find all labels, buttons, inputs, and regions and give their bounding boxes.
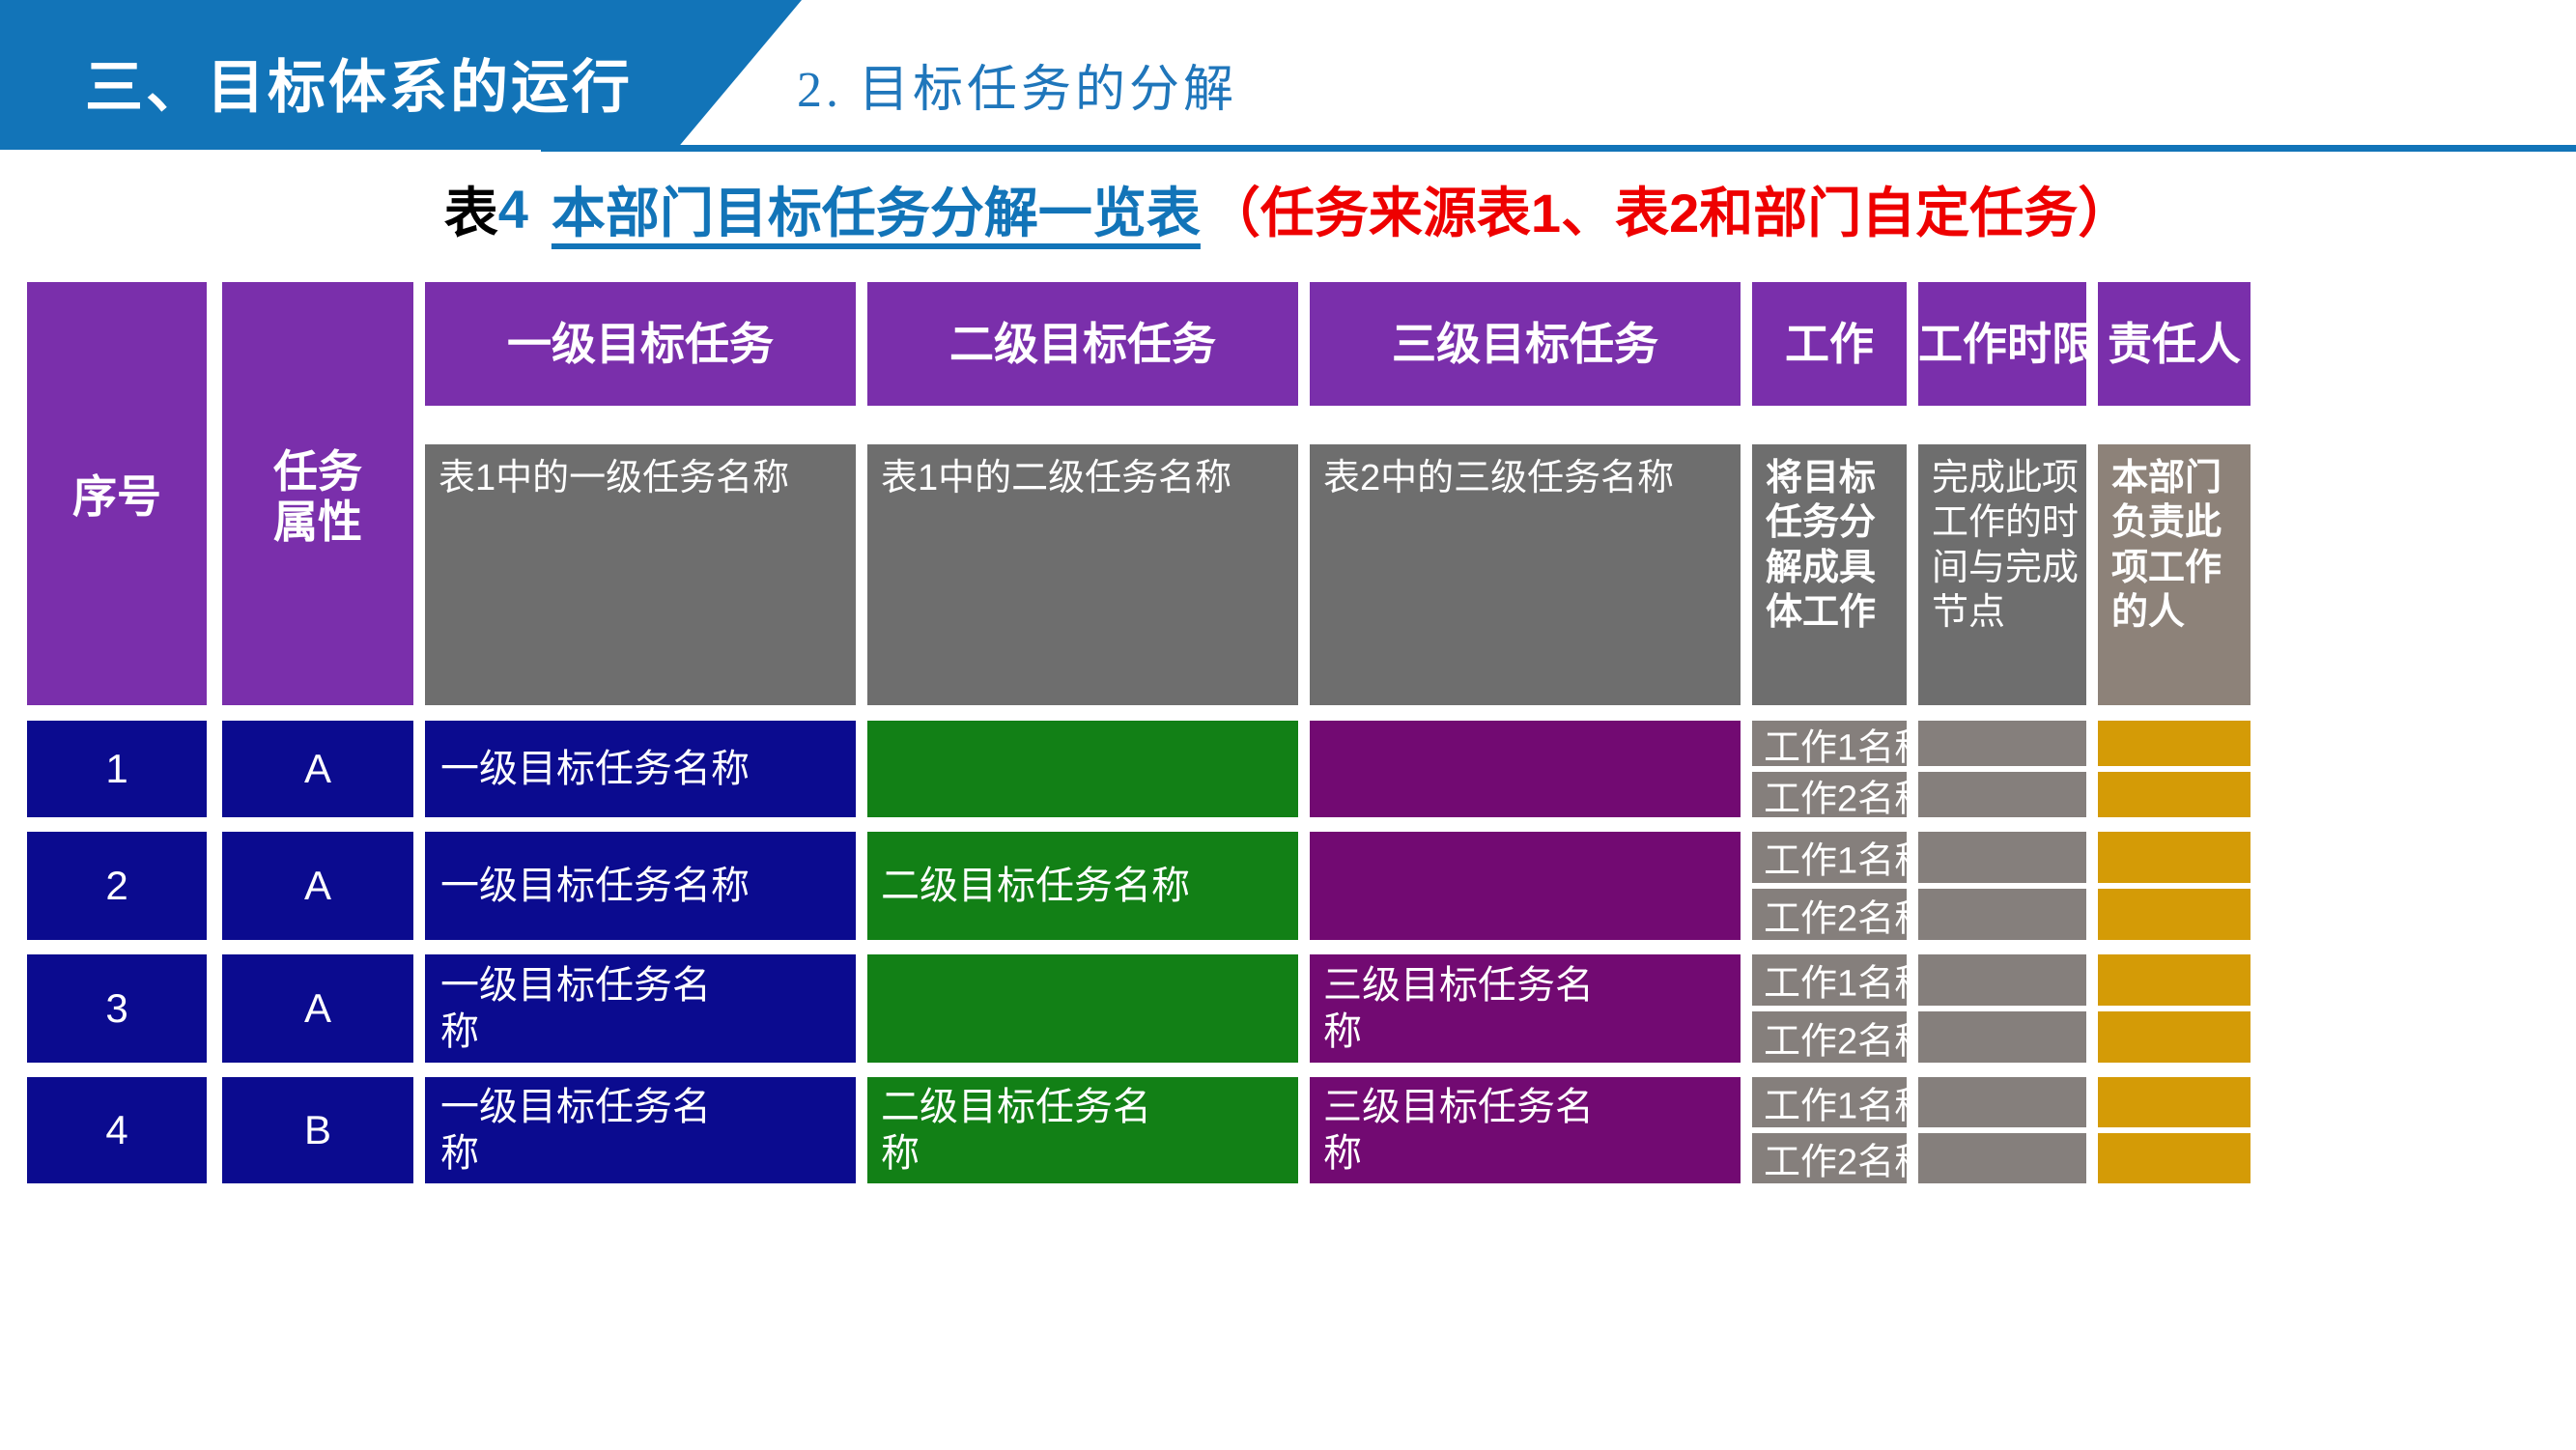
header-label-level2: 二级目标任务 (867, 309, 1298, 373)
cell-level1[interactable]: 一级目标任务名称 (425, 721, 856, 817)
table-row[interactable]: 4 (27, 1077, 207, 1183)
header-label-deadline: 工作时限 (1918, 309, 2086, 373)
cell-attr-value: A (222, 985, 413, 1032)
cell-deadline-sub1[interactable] (1918, 832, 2086, 883)
header-stack-owner: 责任人 本部门负责此项工作的人 (2098, 282, 2250, 705)
banner-divider-rule (541, 145, 2576, 152)
cell-seq: 3 (27, 985, 207, 1032)
cell-level3[interactable] (1310, 721, 1741, 817)
cell-deadline[interactable] (1918, 721, 2086, 817)
header-cell-seq: 序号 (27, 282, 207, 705)
header-desc-text-deadline: 完成此项工作的时间与完成节点 (1932, 456, 2079, 635)
cell-work-sub2-value: 工作2名称 (1764, 889, 1907, 940)
header-stack-gap (1752, 406, 1907, 444)
section-title: 三、目标体系的运行 (85, 41, 633, 125)
cell-work-sub2[interactable]: 工作2名称 (1752, 1133, 1907, 1183)
header-cell-level2: 二级目标任务 (867, 282, 1298, 406)
cell-work-sub1-value: 工作1名称 (1764, 832, 1907, 883)
cell-level1-value: 一级目标任务名称 (440, 863, 846, 909)
cell-work-sub1[interactable]: 工作1名称 (1752, 721, 1907, 766)
cell-deadline-sub1[interactable] (1918, 721, 2086, 766)
header-stack-gap (867, 406, 1298, 444)
cell-owner-sub1[interactable] (2098, 1077, 2250, 1127)
cell-deadline-sub2[interactable] (1918, 1133, 2086, 1183)
header-stack-level2: 二级目标任务 表1中的二级任务名称 (867, 282, 1298, 705)
cell-work-sub1-value: 工作1名称 (1764, 954, 1907, 1006)
cell-level1-value: 一级目标任务名称 (440, 746, 846, 792)
cell-seq: 4 (27, 1107, 207, 1153)
grid-gap (2086, 282, 2098, 705)
cell-level1-value: 一级目标任务名称 (440, 962, 740, 1055)
header-desc-text-level1: 表1中的一级任务名称 (439, 456, 848, 500)
slide-header-banner: 三、目标体系的运行 2. 目标任务的分解 (0, 0, 2576, 150)
grid-gap (1741, 282, 1752, 705)
cell-level3[interactable] (1310, 832, 1741, 940)
grid-gap (1298, 282, 1310, 705)
cell-work-sub2[interactable]: 工作2名称 (1752, 889, 1907, 940)
cell-work-sub2-value: 工作2名称 (1764, 772, 1907, 817)
grid-gap (856, 282, 867, 705)
cell-attr-value: B (222, 1107, 413, 1153)
cell-level1-value: 一级目标任务名称 (440, 1084, 740, 1177)
header-stack-gap (1310, 406, 1741, 444)
cell-work[interactable]: 工作1名称 工作2名称 (1752, 1077, 1907, 1183)
header-label-level1: 一级目标任务 (425, 309, 856, 373)
cell-level3-value: 三级目标任务名称 (1323, 1084, 1625, 1177)
task-decomposition-table: 序号 任务 属性 一级目标任务 表1中的一级任务名称 二级目标任务 表 (27, 282, 2538, 1450)
cell-level2[interactable]: 二级目标任务名称 (867, 832, 1298, 940)
cell-deadline-sub2[interactable] (1918, 1011, 2086, 1063)
table-title: 表4本部门目标任务分解一览表（任务来源表1、表2和部门自定任务） (0, 170, 2576, 259)
cell-deadline[interactable] (1918, 832, 2086, 940)
header-cell-level1: 一级目标任务 (425, 282, 856, 406)
grid-gap (1907, 282, 1918, 705)
table-row[interactable]: 2 (27, 832, 207, 940)
cell-level2[interactable] (867, 721, 1298, 817)
cell-work[interactable]: 工作1名称 工作2名称 (1752, 832, 1907, 940)
header-desc-level3: 表2中的三级任务名称 (1310, 444, 1741, 705)
table-row[interactable]: 3 (27, 954, 207, 1063)
cell-work[interactable]: 工作1名称 工作2名称 (1752, 721, 1907, 817)
cell-level1[interactable]: 一级目标任务名称 (425, 1077, 856, 1183)
cell-attr[interactable]: A (222, 721, 413, 817)
cell-owner[interactable] (2098, 832, 2250, 940)
cell-attr-value: A (222, 863, 413, 909)
cell-owner[interactable] (2098, 1077, 2250, 1183)
header-desc-level2: 表1中的二级任务名称 (867, 444, 1298, 705)
header-desc-deadline: 完成此项工作的时间与完成节点 (1918, 444, 2086, 705)
cell-owner-sub1[interactable] (2098, 954, 2250, 1006)
cell-deadline-sub2[interactable] (1918, 772, 2086, 817)
header-label-work: 工作 (1752, 309, 1907, 373)
cell-work-sub2[interactable]: 工作2名称 (1752, 1011, 1907, 1063)
section-subtitle: 2. 目标任务的分解 (797, 48, 1237, 121)
header-cell-level3: 三级目标任务 (1310, 282, 1741, 406)
header-desc-work: 将目标任务分解成具体工作 (1752, 444, 1907, 705)
cell-level2[interactable] (867, 954, 1298, 1063)
header-desc-text-level3: 表2中的三级任务名称 (1323, 456, 1733, 500)
grid-gap (413, 282, 425, 705)
table-title-note: （任务来源表1、表2和部门自定任务） (1206, 183, 2132, 243)
header-label-owner: 责任人 (2098, 309, 2250, 373)
cell-owner[interactable] (2098, 954, 2250, 1063)
header-stack-gap (425, 406, 856, 444)
header-desc-text-owner: 本部门负责此项工作的人 (2111, 456, 2243, 635)
grid-gap (207, 282, 222, 705)
cell-attr[interactable]: A (222, 954, 413, 1063)
cell-owner[interactable] (2098, 721, 2250, 817)
header-desc-text-level2: 表1中的二级任务名称 (881, 456, 1290, 500)
table-title-number: 4 (498, 179, 528, 240)
header-cell-attr: 任务 属性 (222, 282, 413, 705)
cell-owner-sub2[interactable] (2098, 889, 2250, 940)
header-desc-text-work: 将目标任务分解成具体工作 (1766, 456, 1899, 635)
header-label-level3: 三级目标任务 (1310, 309, 1741, 373)
cell-attr[interactable]: B (222, 1077, 413, 1183)
header-desc-level1: 表1中的一级任务名称 (425, 444, 856, 705)
cell-level1[interactable]: 一级目标任务名称 (425, 832, 856, 940)
cell-level3[interactable]: 三级目标任务名称 (1310, 954, 1741, 1063)
table-title-main: 本部门目标任务分解一览表 (552, 183, 1201, 243)
slide-canvas: 三、目标体系的运行 2. 目标任务的分解 表4本部门目标任务分解一览表（任务来源… (0, 0, 2576, 1450)
cell-deadline-sub2[interactable] (1918, 889, 2086, 940)
cell-work-sub1[interactable]: 工作1名称 (1752, 954, 1907, 1006)
header-label-attr-line2: 属性 (222, 487, 413, 551)
cell-level3[interactable]: 三级目标任务名称 (1310, 1077, 1741, 1183)
cell-deadline[interactable] (1918, 954, 2086, 1063)
cell-work-sub2-value: 工作2名称 (1764, 1133, 1907, 1183)
header-stack-gap (1918, 406, 2086, 444)
cell-work-sub2-value: 工作2名称 (1764, 1011, 1907, 1063)
cell-level2-value: 二级目标任务名称 (881, 1084, 1182, 1177)
cell-work-sub1[interactable]: 工作1名称 (1752, 832, 1907, 883)
header-stack-gap (2098, 406, 2250, 444)
header-label-seq: 序号 (27, 462, 207, 526)
header-stack-work: 工作 将目标任务分解成具体工作 (1752, 282, 1907, 705)
cell-work[interactable]: 工作1名称 工作2名称 (1752, 954, 1907, 1063)
cell-deadline[interactable] (1918, 1077, 2086, 1183)
header-stack-deadline: 工作时限 完成此项工作的时间与完成节点 (1918, 282, 2086, 705)
cell-work-sub1[interactable]: 工作1名称 (1752, 1077, 1907, 1127)
header-cell-deadline: 工作时限 (1918, 282, 2086, 406)
cell-seq: 1 (27, 746, 207, 792)
header-cell-work: 工作 (1752, 282, 1907, 406)
cell-work-sub1-value: 工作1名称 (1764, 1077, 1907, 1127)
table-row[interactable]: 1 (27, 721, 207, 817)
cell-work-sub2[interactable]: 工作2名称 (1752, 772, 1907, 817)
cell-level1[interactable]: 一级目标任务名称 (425, 954, 856, 1063)
header-stack-level3: 三级目标任务 表2中的三级任务名称 (1310, 282, 1741, 705)
header-stack-level1: 一级目标任务 表1中的一级任务名称 (425, 282, 856, 705)
cell-seq: 2 (27, 863, 207, 909)
cell-deadline-sub1[interactable] (1918, 954, 2086, 1006)
cell-owner-sub2[interactable] (2098, 1011, 2250, 1063)
cell-level2[interactable]: 二级目标任务名称 (867, 1077, 1298, 1183)
cell-level3-value: 三级目标任务名称 (1323, 962, 1625, 1055)
header-desc-owner: 本部门负责此项工作的人 (2098, 444, 2250, 705)
cell-owner-sub1[interactable] (2098, 832, 2250, 883)
cell-attr-value: A (222, 746, 413, 792)
header-cell-owner: 责任人 (2098, 282, 2250, 406)
table-title-prefix: 表 (444, 183, 498, 243)
cell-owner-sub2[interactable] (2098, 1133, 2250, 1183)
cell-owner-sub2[interactable] (2098, 772, 2250, 817)
cell-work-sub1-value: 工作1名称 (1764, 721, 1907, 766)
cell-attr[interactable]: A (222, 832, 413, 940)
cell-owner-sub1[interactable] (2098, 721, 2250, 766)
cell-deadline-sub1[interactable] (1918, 1077, 2086, 1127)
cell-level2-value: 二级目标任务名称 (881, 863, 1288, 909)
